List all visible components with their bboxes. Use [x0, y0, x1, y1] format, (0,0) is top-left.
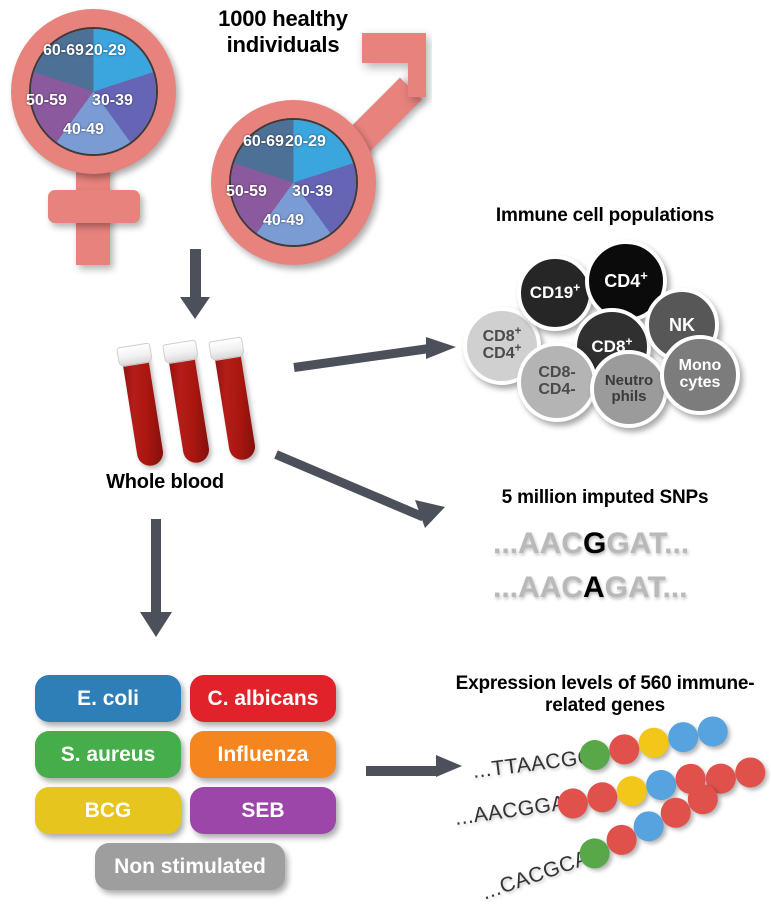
pie-label-60-69: 60-69 [43, 42, 84, 60]
cell-cd19plus: CD19+ [517, 255, 593, 331]
stimulus-s-aureus[interactable]: S. aureus [35, 731, 181, 778]
stimulus-label: BCG [85, 799, 132, 823]
immune-cell-populations-title: Immune cell populations [455, 205, 755, 227]
snp-variant-allele: G [583, 527, 606, 560]
stimulus-c-albicans[interactable]: C. albicans [190, 675, 336, 722]
cell-label: Mono cytes [679, 358, 722, 391]
cell-label: Neutro phils [605, 373, 653, 404]
pie-label-50-59: 50-59 [226, 183, 267, 201]
stimulus-label: C. albicans [208, 687, 319, 711]
cell-neutrophils: Neutro phils [590, 350, 668, 428]
cell-monocytes: Mono cytes [660, 335, 740, 415]
gene-expression-title: Expression levels of 560 immune-related … [450, 673, 760, 718]
whole-blood-label: Whole blood [75, 471, 255, 495]
cell-label: CD19+ [530, 284, 581, 302]
pie-label-20-29: 20-29 [285, 133, 326, 151]
pie-label-20-29: 20-29 [85, 42, 126, 60]
snp-suffix: GAT... [605, 571, 688, 604]
stimulus-label: S. aureus [61, 743, 156, 767]
cell-label: CD8- CD4- [538, 365, 575, 398]
gene-bead [666, 720, 699, 753]
snp-sequence-row: ...AACGGAT... [493, 527, 689, 561]
stimulus-label: SEB [241, 799, 284, 823]
tube-body [168, 352, 211, 465]
figure-canvas: 1000 healthy individuals 20-29 30-39 40-… [0, 0, 771, 922]
tube-body [122, 355, 165, 468]
gene-bead [608, 733, 641, 766]
gene-bead [637, 726, 670, 759]
stimulus-label: E. coli [77, 687, 139, 711]
stimulus-label: Influenza [217, 743, 308, 767]
cell-cd8minus-cd4minus: CD8- CD4- [517, 342, 597, 422]
snp-prefix: ...AAC [493, 571, 583, 604]
snp-prefix: ...AAC [493, 527, 583, 560]
stimulus-seb[interactable]: SEB [190, 787, 336, 834]
stimuli-group: E. coli C. albicans S. aureus Influenza … [35, 675, 355, 900]
pie-label-40-49: 40-49 [263, 212, 304, 230]
stimulus-label: Non stimulated [114, 855, 266, 879]
pie-label-60-69: 60-69 [243, 133, 284, 151]
stimulus-non-stimulated[interactable]: Non stimulated [95, 843, 285, 890]
gene-bead [615, 774, 649, 808]
stimulus-influenza[interactable]: Influenza [190, 731, 336, 778]
stimulus-e-coli[interactable]: E. coli [35, 675, 181, 722]
gene-bead [733, 756, 767, 790]
pie-label-40-49: 40-49 [63, 121, 104, 139]
stimulus-bcg[interactable]: BCG [35, 787, 181, 834]
pie-label-50-59: 50-59 [26, 92, 67, 110]
cell-label: CD8+ CD4+ [483, 329, 522, 362]
snp-sequence-row: ...AACAGAT... [493, 571, 687, 605]
gene-bead [585, 780, 619, 814]
pie-label-30-39: 30-39 [92, 92, 133, 110]
pie-label-30-39: 30-39 [292, 183, 333, 201]
gene-bead [696, 715, 729, 748]
female-crossbar [48, 190, 140, 223]
cell-label: NK [669, 316, 695, 335]
snp-variant-allele: A [583, 571, 605, 604]
immune-cells-group: CD8+ CD4+ CD19+ CD4+ CD8+ NK [455, 235, 755, 425]
gene-strands-group: ...TTAACGG ...AACGGAT ...CACGCAA [455, 735, 771, 920]
snp-suffix: GAT... [606, 527, 689, 560]
gene-strand-sequence: ...TTAACGG [471, 745, 595, 784]
blood-tubes-group [100, 345, 300, 485]
arrowhead-snps [415, 500, 455, 540]
tube-body [214, 349, 257, 462]
snp-sequences-group: ...AACGGAT... ...AACAGAT... [485, 527, 750, 617]
cell-label: CD4+ [604, 272, 648, 291]
male-arrow-head [340, 25, 432, 117]
snps-title: 5 million imputed SNPs [455, 487, 755, 509]
